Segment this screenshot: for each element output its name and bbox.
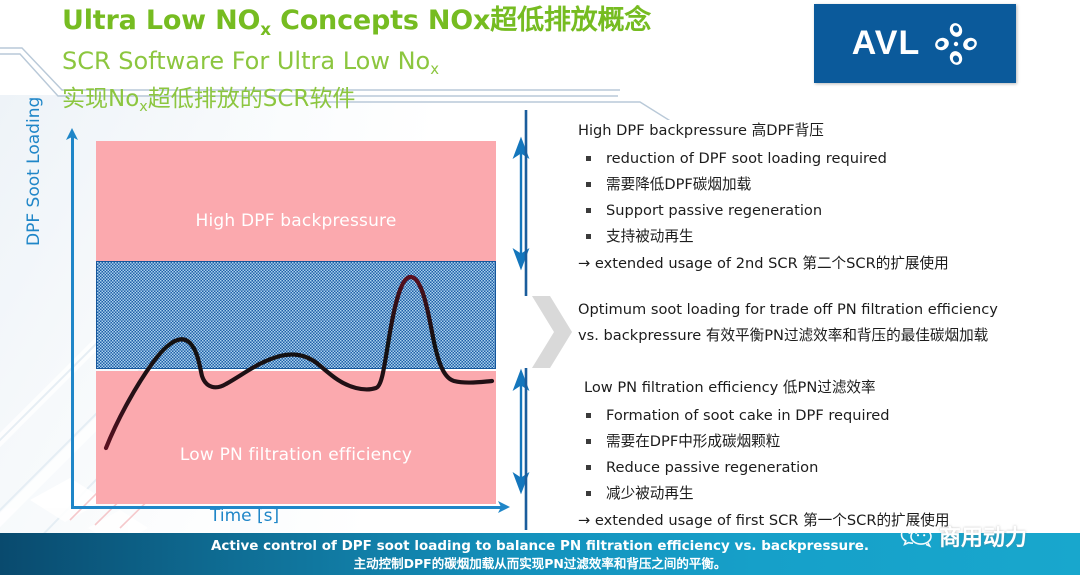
title-line-2: SCR Software For Ultra Low Nox	[62, 46, 782, 84]
chart-band-high-backpressure: High DPF backpressure	[96, 141, 496, 261]
chart-x-axis	[71, 506, 503, 509]
banner-text-chinese: 主动控制DPF的碳烟加载从而实现PN过滤效率和背压之间的平衡。	[354, 555, 727, 572]
title-line-1: Ultra Low NOx Concepts NOx超低排放概念	[62, 4, 782, 46]
dpf-soot-loading-chart: DPF Soot Loading Time [s] High DPF backp…	[30, 118, 515, 528]
spacer	[578, 349, 1058, 375]
chart-y-axis	[71, 136, 74, 508]
avl-pinwheel-icon	[934, 22, 978, 66]
slide-root: Ultra Low NOx Concepts NOx超低排放概念 SCR Sof…	[0, 0, 1080, 579]
chart-y-axis-label: DPF Soot Loading	[24, 66, 44, 246]
chart-band-low-filtration: Low PN filtration efficiency	[96, 371, 496, 504]
list-item: 减少被动再生	[578, 481, 1058, 507]
list-item: reduction of DPF soot loading required	[578, 146, 1058, 172]
spacer	[578, 277, 1058, 297]
chart-x-axis-label: Time [s]	[210, 506, 410, 526]
y-axis-arrowhead	[64, 128, 80, 144]
block1-bullet-list: reduction of DPF soot loading required 需…	[578, 146, 1058, 250]
avl-wordmark: AVL	[852, 24, 920, 63]
banner-underline	[0, 575, 1080, 579]
chart-band-optimum-window	[96, 261, 496, 369]
banner-text-english: Active control of DPF soot loading to ba…	[211, 537, 869, 555]
chevron-right-icon	[532, 296, 572, 368]
list-item: 需要降低DPF碳烟加载	[578, 172, 1058, 198]
list-item: 需要在DPF中形成碳烟颗粒	[578, 429, 1058, 455]
block1-conclusion: → extended usage of 2nd SCR 第二个SCR的扩展使用	[578, 250, 1058, 277]
slide-title: Ultra Low NOx Concepts NOx超低排放概念 SCR Sof…	[62, 4, 782, 122]
list-item: 支持被动再生	[578, 224, 1058, 250]
block3-heading: Low PN filtration efficiency 低PN过滤效率	[578, 375, 1058, 401]
title-line-3: 实现Nox超低排放的SCR软件	[62, 84, 782, 122]
chart-band-label-top: High DPF backpressure	[96, 211, 496, 231]
block2-line-1: Optimum soot loading for trade off PN fi…	[578, 297, 1058, 323]
summary-banner: Active control of DPF soot loading to ba…	[0, 533, 1080, 575]
avl-logo: AVL	[814, 4, 1016, 83]
block3-bullet-list: Formation of soot cake in DPF required 需…	[578, 403, 1058, 507]
list-item: Formation of soot cake in DPF required	[578, 403, 1058, 429]
list-item: Reduce passive regeneration	[578, 455, 1058, 481]
block1-heading: High DPF backpressure 高DPF背压	[578, 118, 1058, 144]
chart-band-label-bottom: Low PN filtration efficiency	[96, 445, 496, 465]
content-column: High DPF backpressure 高DPF背压 reduction o…	[578, 118, 1058, 534]
block2-line-2: vs. backpressure 有效平衡PN过滤效率和背压的最佳碳烟加载	[578, 323, 1058, 349]
block3-conclusion: → extended usage of first SCR 第一个SCR的扩展使…	[578, 507, 1058, 534]
list-item: Support passive regeneration	[578, 198, 1058, 224]
